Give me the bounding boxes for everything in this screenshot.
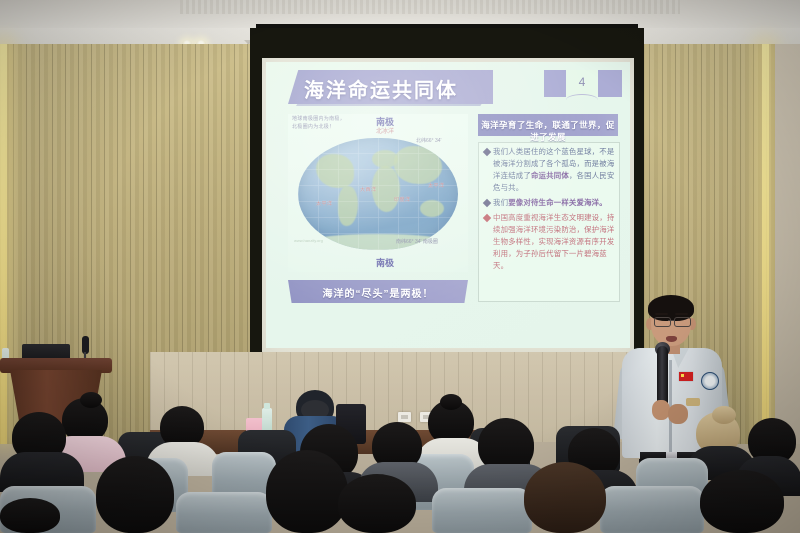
attendee-head bbox=[266, 450, 348, 533]
presenter-mouth bbox=[666, 336, 677, 342]
bullet-text: 我们人类居住的这个蓝色星球，不是被海洋分割成了各个孤岛，而是被海洋连结成了命运共… bbox=[493, 146, 615, 194]
lecture-hall-photo: 海洋命运共同体 4 地球南极圈内为南极， 北极圈内为北极！ 南极 北冰洋 北纬6… bbox=[0, 0, 800, 533]
ocean-label: 太平洋 bbox=[428, 182, 445, 189]
presenter-eyebrow bbox=[675, 313, 688, 315]
attendee-head bbox=[96, 456, 174, 533]
round-emblem-patch-icon bbox=[701, 372, 719, 390]
bullet-text: 我们要像对待生命一样关爱海洋。 bbox=[493, 197, 615, 209]
bullet-item: 我们人类居住的这个蓝色星球，不是被海洋分割成了各个孤岛，而是被海洋连结成了命运共… bbox=[479, 146, 619, 194]
eyeglasses-bridge bbox=[668, 320, 675, 321]
attendee-head bbox=[700, 470, 784, 533]
eyeglasses-icon bbox=[654, 317, 671, 327]
presentation-slide: 海洋命运共同体 4 地球南极圈内为南极， 北极圈内为北极！ 南极 北冰洋 北纬6… bbox=[266, 62, 630, 348]
slide-title: 海洋命运共同体 bbox=[304, 74, 504, 103]
chair-back bbox=[176, 492, 272, 533]
presenter-hand bbox=[668, 404, 688, 424]
diamond-bullet-icon bbox=[483, 214, 491, 222]
map-label-south-pole: 南极 bbox=[376, 256, 394, 269]
map-note: 地球南极圈内为南极， 北极圈内为北极！ bbox=[292, 116, 384, 131]
ocean-label: 太平洋 bbox=[316, 200, 333, 207]
attendee-head bbox=[0, 498, 60, 533]
world-map-panel: 地球南极圈内为南极， 北极圈内为北极！ 南极 北冰洋 北纬66° 34' 太平洋… bbox=[288, 114, 468, 272]
slide-quote-text: 海洋孕育了生命，联通了世界，促进了发展 bbox=[478, 119, 618, 143]
bullet-item: 中国高度重视海洋生态文明建设，持续加强海洋环境污染防治，保护海洋生物多样性，实现… bbox=[479, 212, 619, 272]
attendee-head bbox=[338, 474, 416, 533]
slide-quote-band: 海洋孕育了生命，联通了世界，促进了发展 bbox=[478, 114, 618, 136]
map-label-latitude-south: 南纬66° 34' 南极圈 bbox=[396, 238, 438, 245]
map-credit: www.hanzify.org bbox=[294, 238, 323, 243]
presenter-eyebrow bbox=[655, 313, 668, 315]
attendee-hair-bun bbox=[712, 406, 736, 424]
ocean-label: 印度洋 bbox=[394, 196, 411, 203]
chair-back bbox=[432, 488, 532, 533]
ocean-label: 大西洋 bbox=[360, 186, 377, 193]
wall-socket bbox=[398, 412, 411, 422]
page-number-curve bbox=[566, 94, 598, 100]
chinese-flag-patch-icon bbox=[679, 372, 693, 381]
right-accent-light bbox=[762, 44, 769, 444]
left-accent-light bbox=[0, 44, 7, 444]
bullet-text: 中国高度重视海洋生态文明建设，持续加强海洋环境污染防治，保护海洋生物多样性，实现… bbox=[493, 212, 615, 272]
map-label-arctic-ocean: 北冰洋 bbox=[376, 126, 394, 135]
diamond-bullet-icon bbox=[483, 199, 491, 207]
page-number: 4 bbox=[566, 75, 598, 89]
diamond-bullet-icon bbox=[483, 148, 491, 156]
slide-bottom-banner: 海洋的“尽头”是两极！ bbox=[288, 280, 468, 303]
eyeglasses-icon bbox=[674, 317, 691, 327]
page-band-right bbox=[598, 70, 622, 97]
attendee-head bbox=[524, 462, 606, 533]
slide-body-box: 我们人类居住的这个蓝色星球，不是被海洋分割成了各个孤岛，而是被海洋连结成了命运共… bbox=[478, 142, 620, 302]
map-graticule bbox=[298, 138, 458, 250]
bullet-item: 我们要像对待生命一样关爱海洋。 bbox=[479, 197, 619, 209]
far-right-wall bbox=[775, 44, 800, 444]
wristwatch-icon bbox=[686, 398, 700, 406]
world-globe: 太平洋 大西洋 印度洋 太平洋 bbox=[298, 138, 458, 250]
attendee-hair-bun bbox=[80, 392, 102, 408]
chair-back bbox=[600, 486, 704, 533]
handheld-microphone bbox=[657, 346, 668, 408]
ceiling-vent bbox=[180, 0, 680, 14]
page-band-left bbox=[544, 70, 566, 97]
slide-bottom-banner-text: 海洋的“尽头”是两极！ bbox=[288, 285, 468, 300]
attendee-hair-bun bbox=[440, 394, 462, 410]
